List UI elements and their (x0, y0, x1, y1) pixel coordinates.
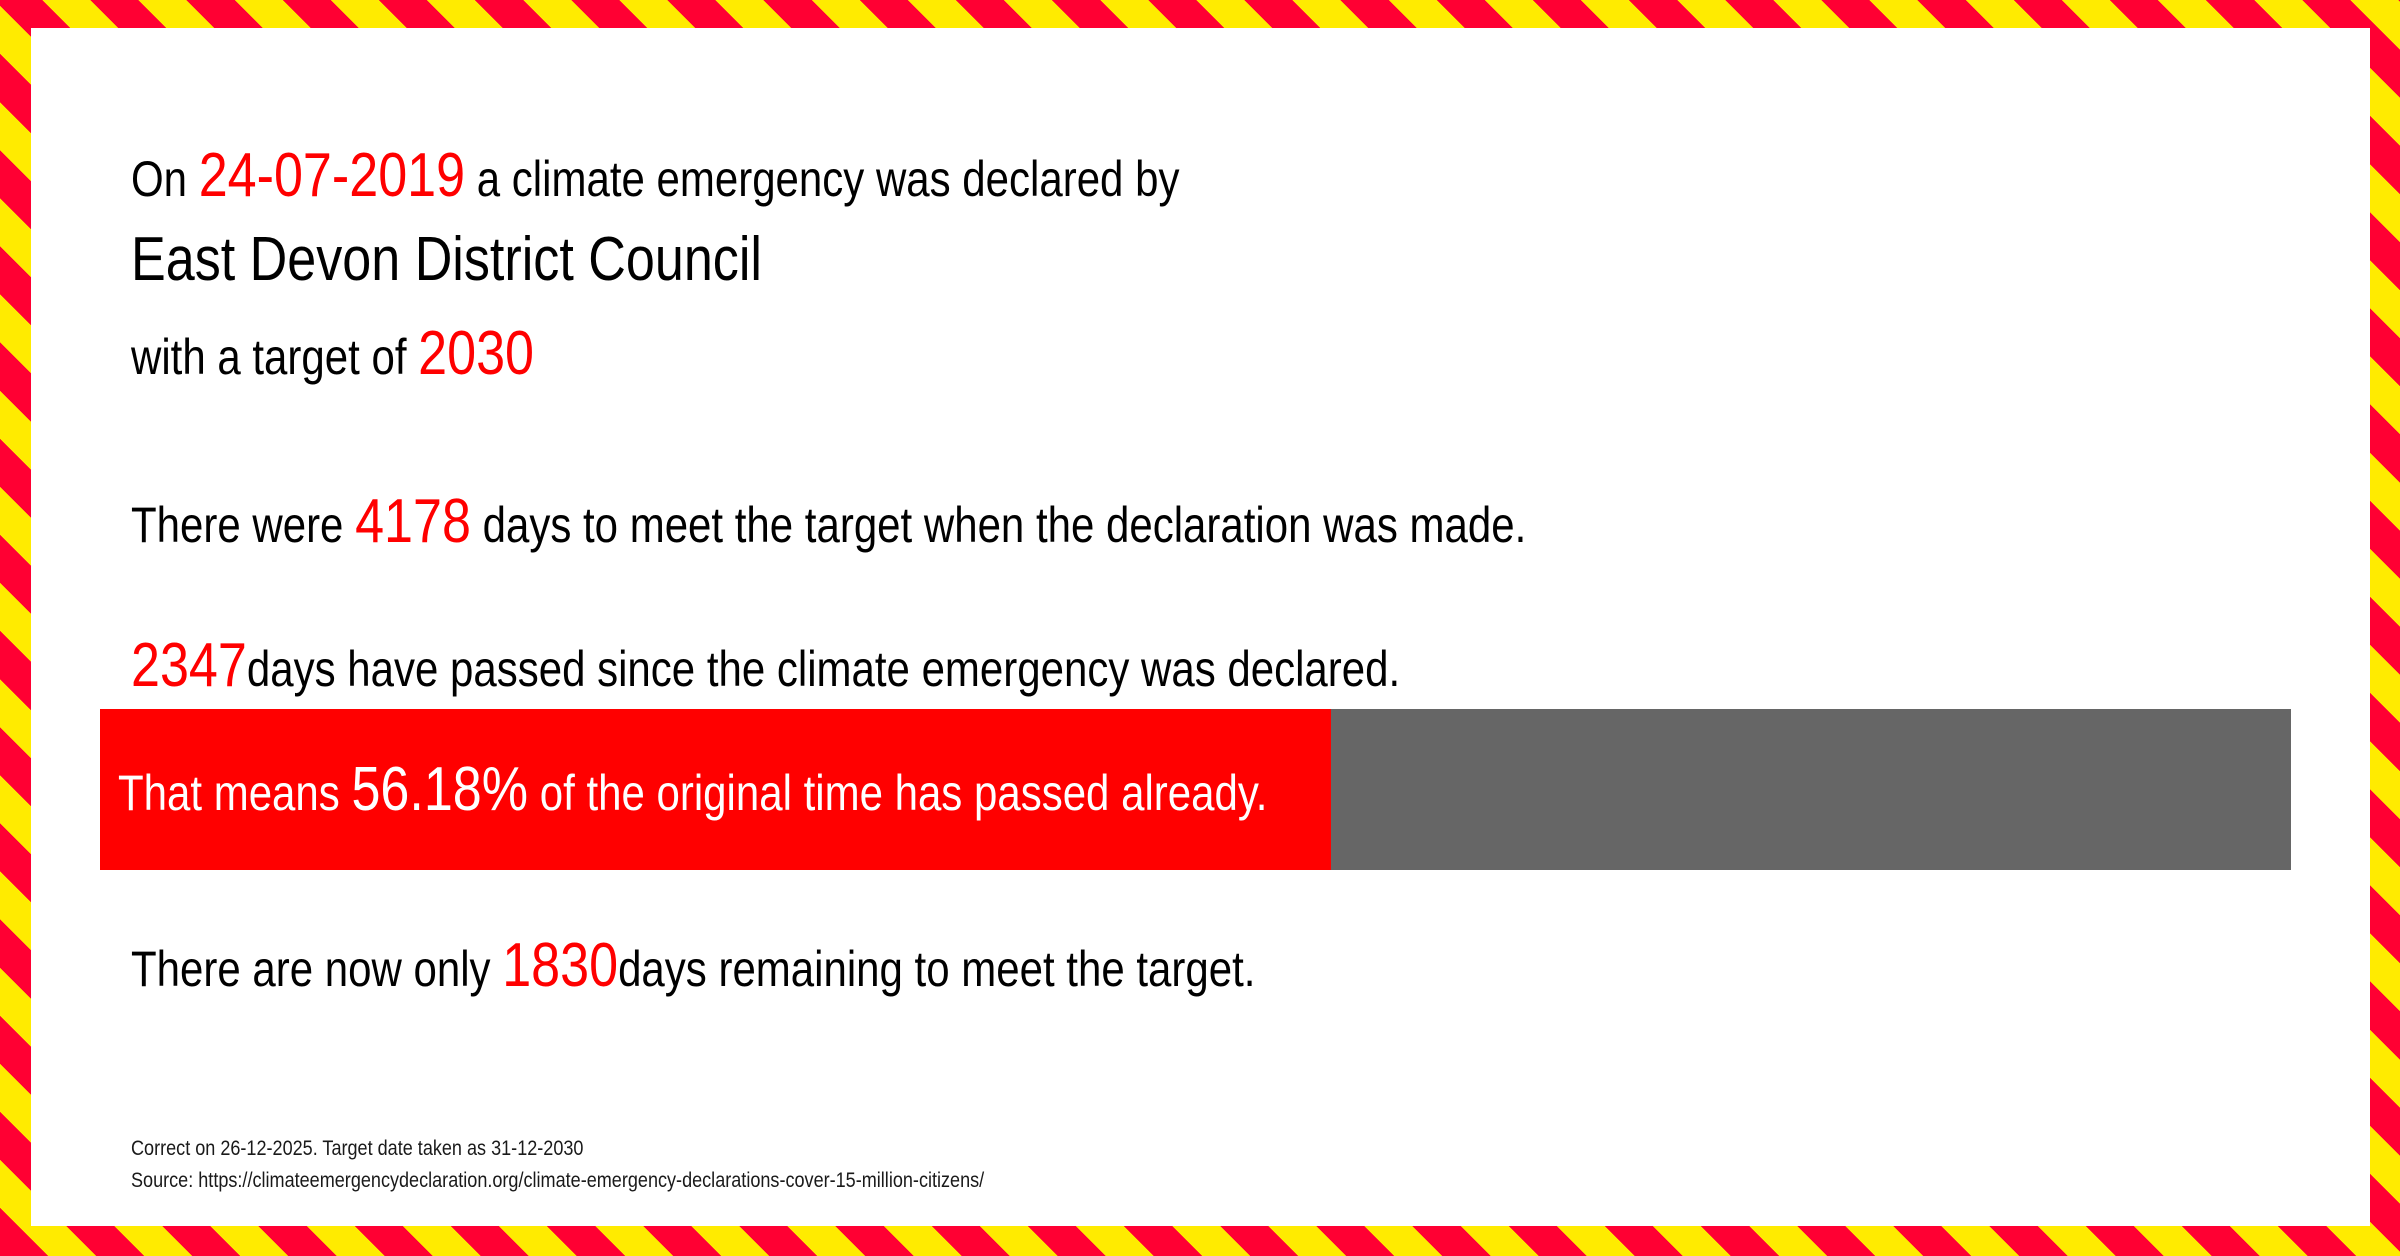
progress-bar-label: That means 56.18% of the original time h… (118, 709, 1486, 870)
hazard-striped-frame: On 24-07-2019 a climate emergency was de… (0, 0, 2400, 1256)
days-to-meet-line: There were 4178 days to meet the target … (131, 486, 1792, 557)
footer-correct-on: Correct on 26-12-2025. Target date taken… (131, 1133, 1123, 1165)
declaration-prefix-text: On (131, 151, 199, 207)
target-year-line: with a target of 2030 (131, 318, 611, 389)
target-prefix-text: with a target of (131, 329, 418, 385)
days-remaining-prefix-text: There are now only (131, 941, 502, 997)
days-to-meet-suffix-text: days to meet the target when the declara… (471, 497, 1526, 553)
footer-source: Source: https://climateemergencydeclarat… (131, 1165, 1123, 1197)
footer-notes: Correct on 26-12-2025. Target date taken… (131, 1133, 1123, 1197)
target-year-value: 2030 (418, 318, 534, 389)
time-elapsed-progress-bar: That means 56.18% of the original time h… (100, 709, 2291, 870)
info-card: On 24-07-2019 a climate emergency was de… (31, 28, 2370, 1226)
days-passed-value: 2347 (131, 631, 247, 700)
progress-label-prefix-text: That means (118, 765, 351, 821)
progress-label-suffix-text: of the original time has passed already. (528, 765, 1267, 821)
declaring-authority: East Devon District Council (131, 224, 882, 295)
declaration-date: 24-07-2019 (199, 141, 465, 210)
days-remaining-value: 1830 (502, 931, 618, 1000)
declaring-authority-label: East Devon District Council (131, 224, 762, 295)
days-passed-line: 2347days have passed since the climate e… (131, 630, 1642, 701)
declaration-suffix-text: a climate emergency was declared by (465, 151, 1179, 207)
days-to-meet-prefix-text: There were (131, 497, 355, 553)
days-to-meet-value: 4178 (355, 486, 471, 557)
footer-correct-on-text: Correct on 26-12-2025. Target date taken… (131, 1133, 583, 1165)
progress-percent-value: 56.18% (351, 709, 528, 870)
declaration-headline: On 24-07-2019 a climate emergency was de… (131, 140, 1379, 211)
days-remaining-suffix-text: days remaining to meet the target. (618, 941, 1255, 997)
days-passed-suffix-text: days have passed since the climate emerg… (247, 641, 1400, 697)
footer-source-text: Source: https://climateemergencydeclarat… (131, 1165, 984, 1197)
days-remaining-line: There are now only 1830days remaining to… (131, 930, 1470, 1001)
